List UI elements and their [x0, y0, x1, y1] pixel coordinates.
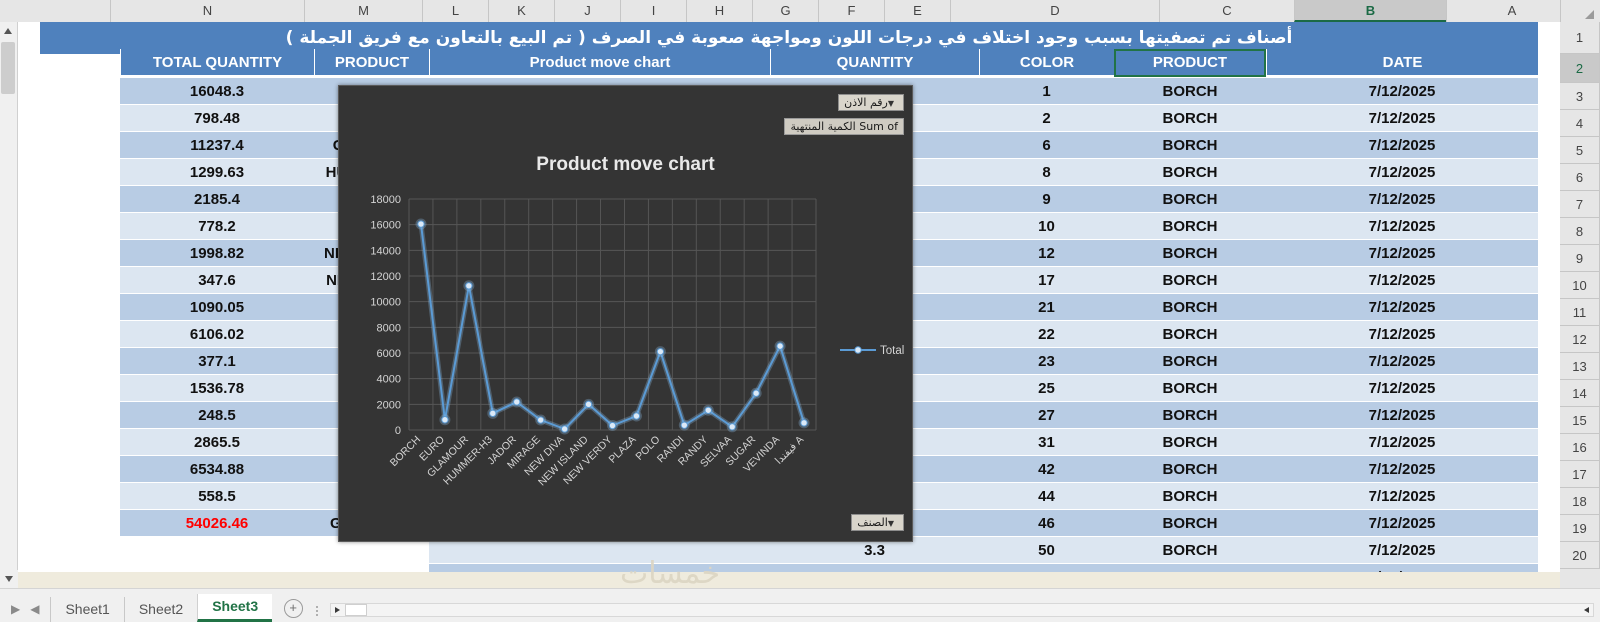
data-point — [705, 407, 711, 413]
cell-pivot-total-quantity[interactable]: 778.2 — [120, 213, 314, 240]
sheet-tab-sheet3[interactable]: Sheet3 — [197, 594, 272, 622]
row-spacer — [1538, 456, 1560, 483]
tab-nav-prev-icon[interactable]: ◀ — [30, 602, 39, 616]
y-axis-tick: 18000 — [370, 194, 401, 206]
cell-product[interactable]: BORCH — [1114, 159, 1266, 186]
row-header-9[interactable]: 9 — [1560, 245, 1600, 272]
cell-date[interactable]: 7/12/2025 — [1266, 294, 1538, 321]
sheet-tabs: Sheet3Sheet2Sheet1 — [50, 594, 272, 622]
cell-color[interactable]: 31 — [979, 429, 1114, 456]
row-spacer — [1538, 321, 1560, 348]
cell-product[interactable]: BORCH — [1114, 456, 1266, 483]
data-point — [490, 410, 496, 416]
cell-color[interactable]: 1 — [979, 78, 1114, 105]
cell-product[interactable]: BORCH — [1114, 375, 1266, 402]
chevron-down-icon: ▼ — [888, 519, 894, 528]
hscroll-right-arrow[interactable] — [331, 604, 344, 616]
cell-date[interactable]: 7/12/2025 — [1266, 186, 1538, 213]
row-header-14[interactable]: 14 — [1560, 380, 1600, 407]
column-header-i[interactable]: I — [620, 0, 686, 22]
chart-plot-area: 0200040006000800010000120001400016000180… — [339, 86, 913, 542]
row-header-12[interactable]: 12 — [1560, 326, 1600, 353]
chevron-down-icon — [5, 576, 13, 582]
cell-product[interactable]: BORCH — [1114, 78, 1266, 105]
cell-pivot-total-quantity[interactable]: 1090.05 — [120, 294, 314, 321]
row-spacer — [1538, 267, 1560, 294]
row-spacer — [1538, 510, 1560, 537]
header-quantity[interactable]: QUANTITY — [770, 49, 979, 77]
y-axis-tick: 0 — [395, 425, 401, 437]
cell-date[interactable]: 7/12/2025 — [1266, 267, 1538, 294]
row-spacer — [1538, 348, 1560, 375]
cell-color[interactable]: 42 — [979, 456, 1114, 483]
pivot-field-button-bottom[interactable]: ▼الصنف — [851, 514, 904, 531]
cell-pivot-total-quantity[interactable]: 1299.63 — [120, 159, 314, 186]
cell-color[interactable]: 12 — [979, 240, 1114, 267]
cell-product[interactable]: BORCH — [1114, 348, 1266, 375]
row-header-2[interactable]: 2 — [1560, 54, 1600, 83]
row-spacer — [1538, 132, 1560, 159]
sheet-tab-sheet1[interactable]: Sheet1 — [50, 597, 123, 622]
data-point — [609, 422, 615, 428]
cell-color[interactable]: 10 — [979, 213, 1114, 240]
cell-pivot-total-quantity[interactable]: 1536.78 — [120, 375, 314, 402]
vertical-scroll-thumb[interactable] — [1, 42, 15, 94]
cell-color[interactable]: 50 — [979, 537, 1114, 564]
data-point — [801, 420, 807, 426]
row-spacer — [1538, 78, 1560, 105]
cell-color[interactable]: 9 — [979, 186, 1114, 213]
column-header-j[interactable]: J — [554, 0, 620, 22]
cell-date[interactable]: 7/12/2025 — [1266, 321, 1538, 348]
scroll-down-arrow[interactable] — [0, 570, 18, 588]
column-header-b[interactable]: B — [1294, 0, 1446, 22]
cell-date[interactable]: 7/12/2025 — [1266, 213, 1538, 240]
cell-date[interactable]: 7/12/2025 — [1266, 429, 1538, 456]
row-spacer — [1538, 240, 1560, 267]
chevron-up-icon — [4, 28, 12, 34]
cell-pivot-total-quantity[interactable]: 11237.4 — [120, 132, 314, 159]
pivot-chart[interactable]: ▼رقم الاذن Sum of الكمية المنتهية Produc… — [338, 85, 913, 542]
row-spacer — [1538, 429, 1560, 456]
top-right-corner — [1560, 0, 1600, 22]
data-point — [585, 401, 591, 407]
data-point — [753, 390, 759, 396]
data-point — [633, 413, 639, 419]
tab-split-grip[interactable] — [314, 603, 320, 617]
header-product-move-chart[interactable]: Product move chart — [429, 49, 770, 77]
cell-product[interactable]: BORCH — [1114, 483, 1266, 510]
row-header-5[interactable]: 5 — [1560, 137, 1600, 164]
column-header-a[interactable]: A — [1446, 0, 1577, 22]
cell-pivot-total-quantity[interactable] — [120, 537, 314, 564]
data-point — [729, 424, 735, 430]
cell-color[interactable]: 17 — [979, 267, 1114, 294]
cell-date[interactable]: 7/12/2025 — [1266, 510, 1538, 537]
plus-icon: + — [284, 599, 303, 618]
legend-label: Total — [880, 345, 904, 357]
row-header-strip: 1234567891011121314151617181920 — [1560, 22, 1600, 588]
column-header-d[interactable]: D — [950, 0, 1159, 22]
column-header-strip: ABCDEFGHIJKLMN — [0, 0, 1600, 23]
y-axis-tick: 2000 — [377, 399, 401, 411]
cell-pivot-total-quantity[interactable]: 6106.02 — [120, 321, 314, 348]
header-color[interactable]: COLOR — [979, 49, 1114, 77]
data-point — [466, 283, 472, 289]
column-header-l[interactable]: L — [422, 0, 488, 22]
row-spacer — [1538, 186, 1560, 213]
data-point — [657, 348, 663, 354]
cell-product[interactable]: BORCH — [1114, 132, 1266, 159]
column-header-h[interactable]: H — [686, 0, 752, 22]
row-header-6[interactable]: 6 — [1560, 164, 1600, 191]
grid-row-2: DATE PRODUCT COLOR QUANTITY Product move… — [18, 49, 1560, 78]
cell-color[interactable]: 25 — [979, 375, 1114, 402]
cell-pivot-total-quantity[interactable]: 347.6 — [120, 267, 314, 294]
cell-product[interactable]: BORCH — [1114, 429, 1266, 456]
row-header-15[interactable]: 15 — [1560, 407, 1600, 434]
cell-pivot-total-quantity[interactable]: 798.48 — [120, 105, 314, 132]
chevron-left-icon — [1584, 607, 1589, 613]
row-header-20[interactable]: 20 — [1560, 542, 1600, 569]
corner-triangle-icon — [1585, 10, 1594, 19]
row-header-16[interactable]: 16 — [1560, 434, 1600, 461]
data-point — [561, 426, 567, 432]
row-header-4[interactable]: 4 — [1560, 110, 1600, 137]
cell-product[interactable]: BORCH — [1114, 105, 1266, 132]
tab-nav-arrows[interactable]: ◀ ▶ — [0, 596, 50, 622]
hscroll-left-arrow[interactable] — [1580, 604, 1593, 616]
y-axis-tick: 10000 — [370, 297, 401, 309]
y-axis-tick: 14000 — [370, 245, 401, 257]
empty-sheet-area — [18, 572, 1560, 588]
y-axis-tick: 8000 — [377, 322, 401, 334]
column-header-m[interactable]: M — [304, 0, 422, 22]
row-spacer — [1538, 402, 1560, 429]
cell-date[interactable]: 7/12/2025 — [1266, 132, 1538, 159]
row-header-17[interactable]: 17 — [1560, 461, 1600, 488]
cell-color[interactable]: 27 — [979, 402, 1114, 429]
cell-color[interactable]: 46 — [979, 510, 1114, 537]
cell-product[interactable]: BORCH — [1114, 213, 1266, 240]
header-pivot-total-quantity[interactable]: TOTAL QUANTITY — [120, 49, 314, 77]
y-axis-tick: 16000 — [370, 220, 401, 232]
cell-date[interactable]: 7/12/2025 — [1266, 483, 1538, 510]
row-spacer — [1538, 213, 1560, 240]
row-header-1[interactable]: 1 — [1560, 22, 1600, 54]
scroll-up-arrow[interactable] — [0, 22, 17, 40]
row-header-13[interactable]: 13 — [1560, 353, 1600, 380]
grid-row-1: أصناف تم تصفيتها بسبب وجود اختلاف في درج… — [18, 22, 1560, 49]
x-axis-tick: BORCH — [388, 434, 423, 469]
cell-product[interactable]: BORCH — [1114, 321, 1266, 348]
cell-pivot-total-quantity[interactable]: 6534.88 — [120, 456, 314, 483]
cell-date[interactable]: 7/12/2025 — [1266, 375, 1538, 402]
row-header-8[interactable]: 8 — [1560, 218, 1600, 245]
cell-date[interactable]: 7/12/2025 — [1266, 456, 1538, 483]
row-header-7[interactable]: 7 — [1560, 191, 1600, 218]
cell-pivot-total-quantity[interactable]: 54026.46 — [120, 510, 314, 537]
cell-product[interactable]: BORCH — [1114, 294, 1266, 321]
row-header-19[interactable]: 19 — [1560, 515, 1600, 542]
cell-color[interactable]: 2 — [979, 105, 1114, 132]
header-pivot-product[interactable]: PRODUCT — [314, 49, 429, 77]
cell-color[interactable]: 22 — [979, 321, 1114, 348]
data-point — [514, 399, 520, 405]
cell-pivot-total-quantity[interactable]: 2185.4 — [120, 186, 314, 213]
row-spacer — [1538, 375, 1560, 402]
row-spacer — [1538, 105, 1560, 132]
cell-product[interactable]: BORCH — [1114, 240, 1266, 267]
add-sheet-button[interactable]: + — [280, 596, 306, 622]
y-axis-tick: 12000 — [370, 271, 401, 283]
cell-color[interactable]: 44 — [979, 483, 1114, 510]
header-date[interactable]: DATE — [1266, 49, 1538, 77]
column-header-f[interactable]: F — [818, 0, 884, 22]
cell-color[interactable]: 6 — [979, 132, 1114, 159]
spacer-cell — [1538, 22, 1560, 49]
vertical-scrollbar[interactable] — [0, 22, 18, 588]
cell-product[interactable]: BORCH — [1114, 402, 1266, 429]
excel-window: ABCDEFGHIJKLMN 1234567891011121314151617… — [0, 0, 1600, 621]
cell-date[interactable]: 7/12/2025 — [1266, 348, 1538, 375]
column-header-n[interactable]: N — [110, 0, 304, 22]
y-axis-tick: 6000 — [377, 348, 401, 360]
cell-pivot-total-quantity[interactable]: 558.5 — [120, 483, 314, 510]
row-spacer — [1538, 294, 1560, 321]
cell-color[interactable]: 8 — [979, 159, 1114, 186]
cell-pivot-total-quantity[interactable]: 1998.82 — [120, 240, 314, 267]
row-header-3[interactable]: 3 — [1560, 83, 1600, 110]
cell-color[interactable]: 21 — [979, 294, 1114, 321]
row-header-18[interactable]: 18 — [1560, 488, 1600, 515]
data-point — [442, 417, 448, 423]
cell-color[interactable]: 23 — [979, 348, 1114, 375]
cell-product[interactable]: BORCH — [1114, 267, 1266, 294]
data-point — [418, 221, 424, 227]
cell-pivot-total-quantity[interactable]: 248.5 — [120, 402, 314, 429]
cell-date[interactable]: 7/12/2025 — [1266, 240, 1538, 267]
row-header-11[interactable]: 11 — [1560, 299, 1600, 326]
cell-date[interactable]: 7/12/2025 — [1266, 402, 1538, 429]
column-header-c[interactable]: C — [1159, 0, 1294, 22]
cell-pivot-total-quantity[interactable]: 16048.3 — [120, 78, 314, 105]
cell-pivot-total-quantity[interactable]: 2865.5 — [120, 429, 314, 456]
sheet-tab-sheet2[interactable]: Sheet2 — [124, 597, 197, 622]
column-header-e[interactable]: E — [884, 0, 950, 22]
cell-product[interactable]: BORCH — [1114, 510, 1266, 537]
cell-date[interactable]: 7/12/2025 — [1266, 537, 1538, 564]
cell-pivot-total-quantity[interactable]: 377.1 — [120, 348, 314, 375]
horizontal-scroll-thumb[interactable] — [345, 604, 367, 616]
cell-date[interactable]: 7/12/2025 — [1266, 105, 1538, 132]
data-point — [537, 417, 543, 423]
tab-nav-next-icon[interactable]: ▶ — [11, 602, 20, 616]
cell-date[interactable]: 7/12/2025 — [1266, 159, 1538, 186]
chevron-right-icon — [335, 607, 340, 613]
row-spacer — [1538, 537, 1560, 564]
cell-product[interactable]: BORCH — [1114, 186, 1266, 213]
y-axis-tick: 4000 — [377, 374, 401, 386]
header-product-active[interactable]: PRODUCT — [1114, 49, 1266, 77]
spacer-cell — [1538, 49, 1560, 76]
data-point — [777, 343, 783, 349]
row-spacer — [1538, 483, 1560, 510]
cell-date[interactable]: 7/12/2025 — [1266, 78, 1538, 105]
horizontal-scrollbar[interactable] — [330, 603, 1594, 617]
sheet-tab-bar: + Sheet3Sheet2Sheet1 ◀ ▶ — [0, 588, 1600, 622]
row-header-10[interactable]: 10 — [1560, 272, 1600, 299]
column-header-k[interactable]: K — [488, 0, 554, 22]
row-spacer — [1538, 159, 1560, 186]
data-point — [681, 422, 687, 428]
column-header-g[interactable]: G — [752, 0, 818, 22]
x-axis-tick: PLAZA — [607, 434, 639, 466]
cell-product[interactable]: BORCH — [1114, 537, 1266, 564]
